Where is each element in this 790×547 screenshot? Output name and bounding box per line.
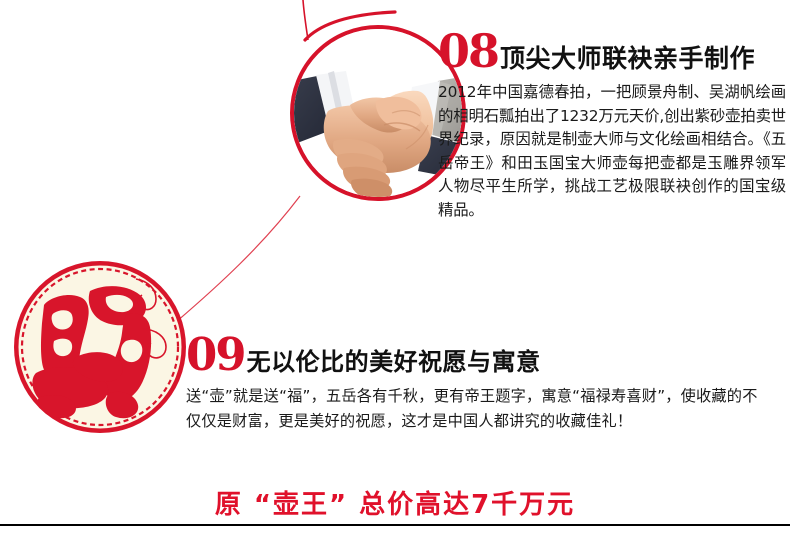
promo-page: 08 顶尖大师联袂亲手制作 2012年中国嘉德春拍，一把顾景舟制、吴湖帆绘画的相… xyxy=(0,0,790,547)
section-09: 09 无以伦比的美好祝愿与寓意 送“壶”就是送“福”，五岳各有千秋，更有帝王题字… xyxy=(186,334,758,434)
fu-seal-art xyxy=(14,261,186,433)
bottom-divider xyxy=(0,524,790,526)
section-08-title: 顶尖大师联袂亲手制作 xyxy=(500,39,755,75)
bottom-banner-text: 原 “壶王” 总价高达7千万元 xyxy=(0,484,790,521)
section-09-title: 无以伦比的美好祝愿与寓意 xyxy=(247,342,541,377)
section-08-heading: 08 顶尖大师联袂亲手制作 xyxy=(438,30,786,75)
section-08: 08 顶尖大师联袂亲手制作 2012年中国嘉德春拍，一把顾景舟制、吴湖帆绘画的相… xyxy=(438,30,786,222)
section-09-number: 09 xyxy=(186,334,245,377)
fu-character-seal xyxy=(14,261,186,433)
section-08-number: 08 xyxy=(438,30,498,74)
section-08-body: 2012年中国嘉德春拍，一把顾景舟制、吴湖帆绘画的相明石瓢拍出了1232万元天价… xyxy=(438,81,786,222)
section-09-heading: 09 无以伦比的美好祝愿与寓意 xyxy=(186,334,758,377)
section-09-body: 送“壶”就是送“福”，五岳各有千秋，更有帝王题字，寓意“福禄寿喜财”，使收藏的不… xyxy=(186,384,758,434)
